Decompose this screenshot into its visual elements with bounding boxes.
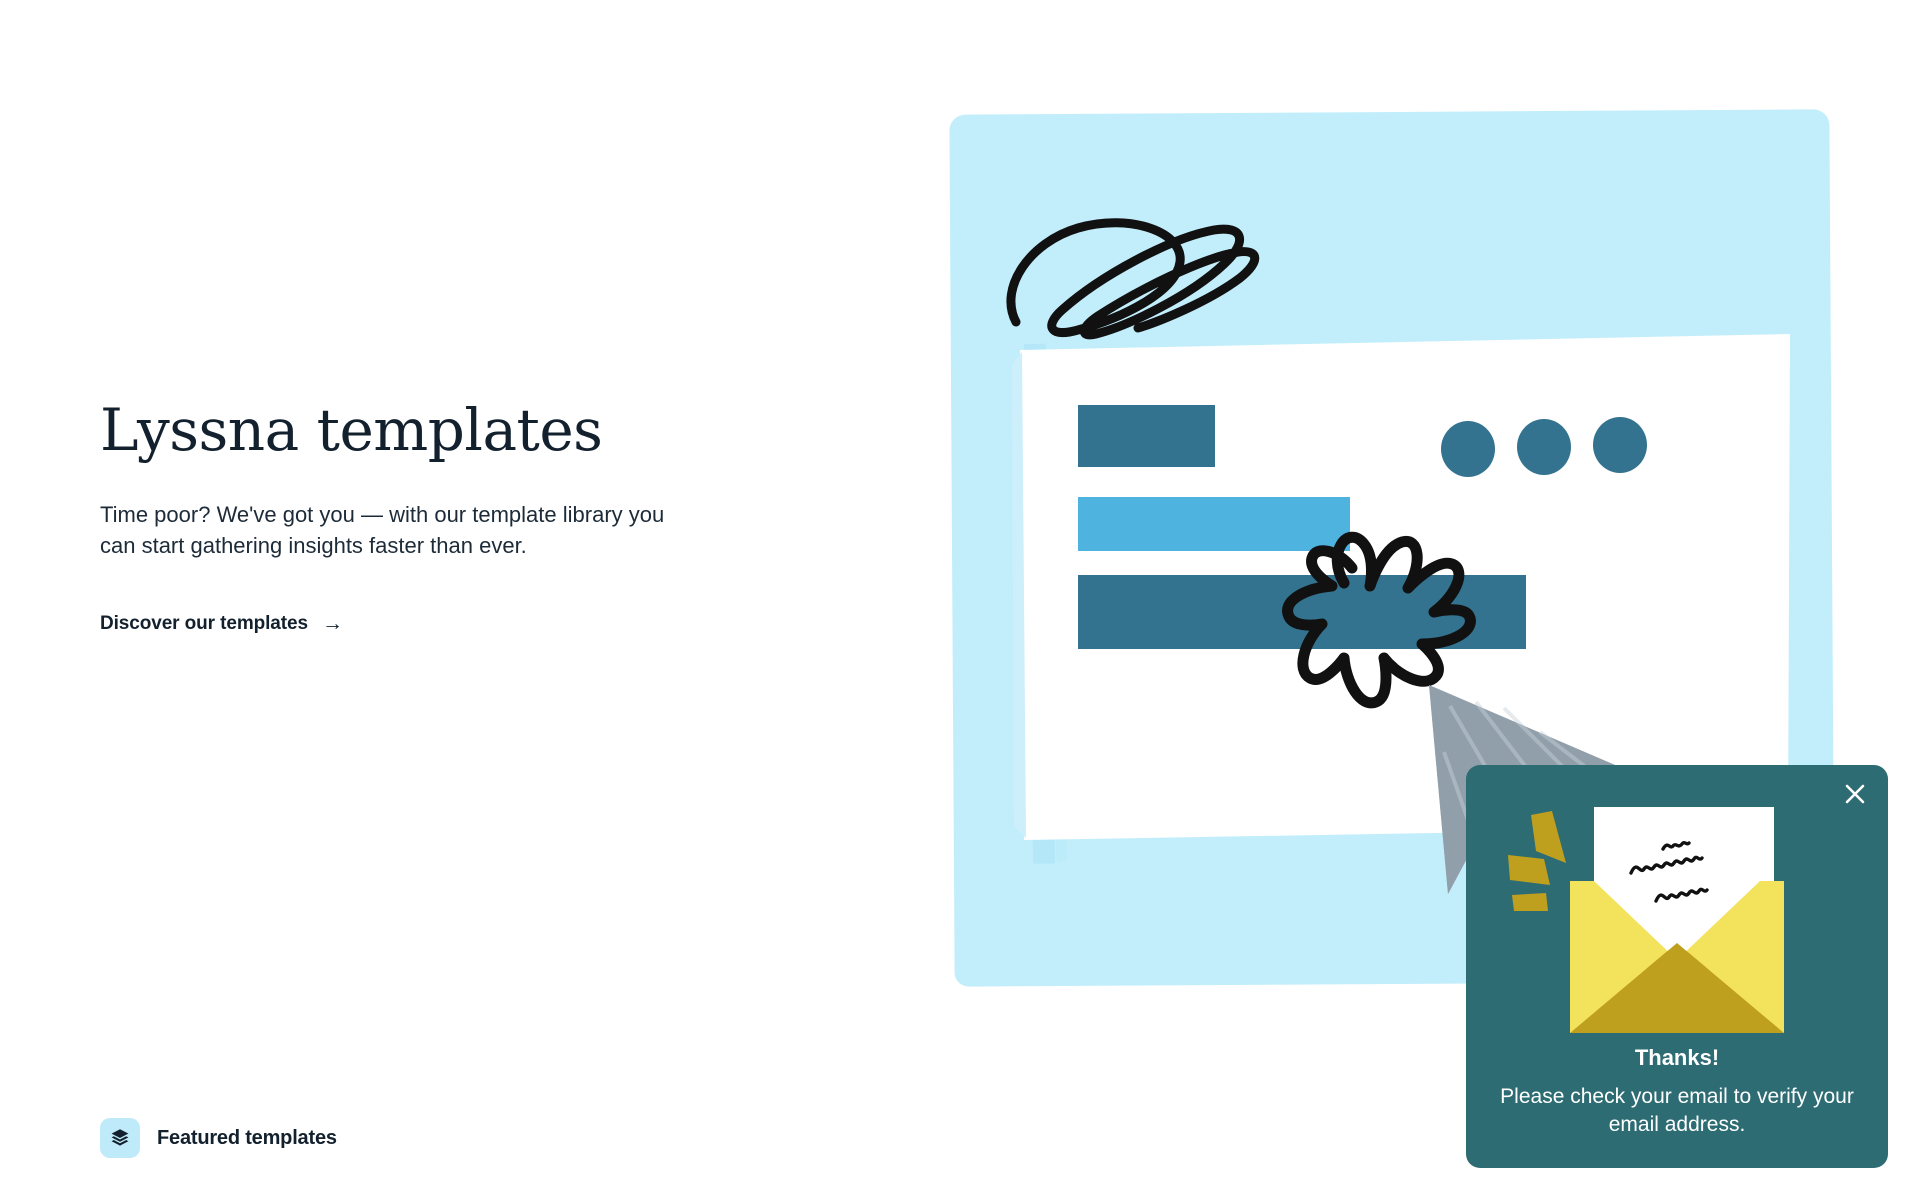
wireframe-dots [1441,417,1647,477]
open-envelope-illustration [1466,801,1888,1037]
page-title: Lyssna templates [100,400,700,461]
scribble-top [1011,223,1255,335]
sparkle-rays [1508,811,1566,911]
featured-templates-label: Featured templates [157,1127,337,1150]
toast-title: Thanks! [1466,1045,1888,1071]
toast-body: Please check your email to verify your e… [1496,1083,1858,1138]
arrow-right-icon: → [322,613,343,634]
wireframe-block-2 [1078,497,1350,551]
email-verification-toast: Thanks! Please check your email to verif… [1466,765,1888,1168]
wireframe-block-1 [1078,405,1215,467]
hero-text-block: Lyssna templates Time poor? We've got yo… [100,400,700,635]
page-root: Lyssna templates Time poor? We've got yo… [0,0,1920,1200]
discover-templates-link[interactable]: Discover our templates → [100,613,343,635]
featured-templates-badge[interactable]: Featured templates [100,1118,337,1158]
discover-templates-label: Discover our templates [100,613,308,635]
hero-subtitle: Time poor? We've got you — with our temp… [100,499,675,561]
layers-icon [100,1118,140,1158]
